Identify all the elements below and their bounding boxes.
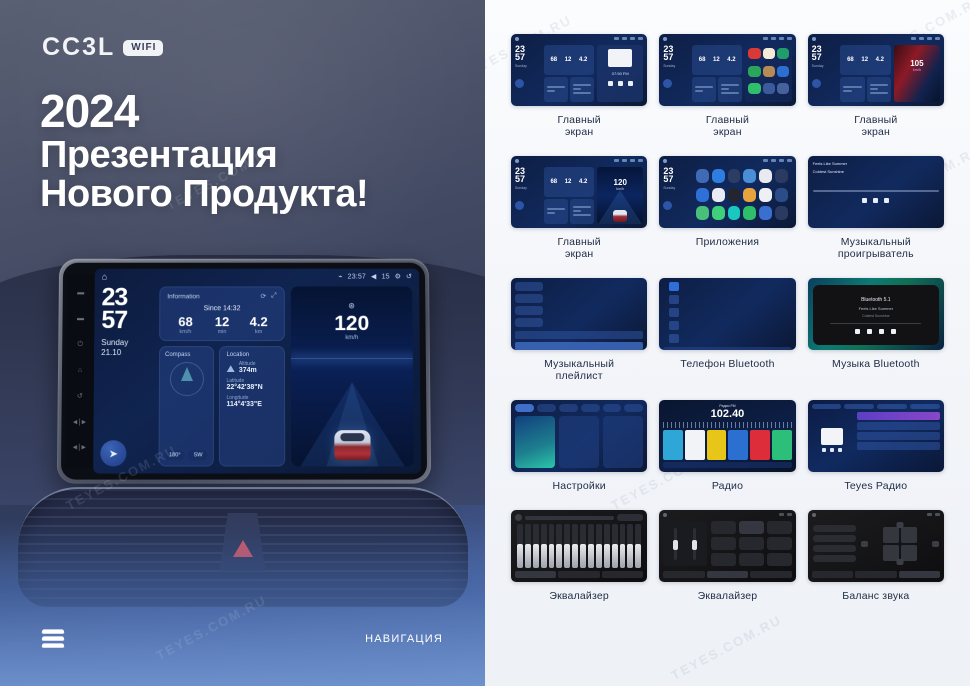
- thumb-widgets: 68 12 4.2: [692, 45, 742, 102]
- preset-rear[interactable]: [813, 545, 856, 552]
- app-icon-filemanager[interactable]: [743, 188, 756, 202]
- clock-widget[interactable]: 23 57 Sunday 21.10 ➤: [100, 286, 153, 466]
- app-icon-carplay[interactable]: [775, 169, 788, 183]
- tab-all[interactable]: [812, 404, 842, 409]
- thumb-status-bar: [808, 34, 944, 43]
- gallery-item[interactable]: Teyes Радио: [808, 400, 944, 492]
- eq-band[interactable]: [572, 524, 578, 568]
- eq-band[interactable]: [596, 524, 602, 568]
- item-caption: Музыкальный плейлист: [544, 358, 614, 382]
- wifi-icon: [763, 159, 768, 162]
- eq2-slider[interactable]: [693, 528, 696, 560]
- eq-band[interactable]: [612, 524, 618, 568]
- hardware-key-column[interactable]: ▬ ▬ ⏻ ⌂ ↺ ◄|► ◄|►: [65, 275, 95, 468]
- back-icon[interactable]: ↺: [406, 273, 412, 281]
- next-icon[interactable]: [891, 329, 896, 334]
- screenshot-home-media[interactable]: 23 57 Sunday 68 12 4.2: [511, 34, 647, 106]
- tab-eq[interactable]: [515, 571, 556, 578]
- volume-icon: [779, 159, 784, 162]
- screenshot-equalizer-2[interactable]: [659, 510, 795, 582]
- preset-driver[interactable]: [813, 525, 856, 532]
- progress-bar[interactable]: [813, 190, 939, 192]
- app-icon-maps[interactable]: [777, 48, 789, 59]
- sidebar-item-search[interactable]: [669, 308, 679, 317]
- screenshot-bluetooth-music[interactable]: Bluetooth 5.1 Feels Like Summer Coldest …: [808, 278, 944, 350]
- navigation-button[interactable]: [812, 79, 821, 88]
- tab-balance[interactable]: [899, 571, 940, 578]
- brand-name: CC3L: [42, 33, 115, 62]
- thumb-minutes: 57: [812, 53, 838, 61]
- head-unit-screen[interactable]: ⌂ ⌁ 23:57 ◀ 15 ⚙ ↺ 23 57: [93, 269, 421, 474]
- app-icon-bluetooth-music[interactable]: [728, 169, 741, 183]
- thumb-status-bar: [511, 34, 647, 43]
- gallery-item[interactable]: Bluetooth 5.1 Feels Like Summer Coldest …: [808, 278, 944, 382]
- information-widget[interactable]: Information ⟳ ⤢ Since 14:32 68 km/h: [159, 286, 285, 341]
- app-icon-radio[interactable]: [759, 206, 772, 220]
- item-caption: Главный экран: [706, 114, 749, 138]
- preset-flat[interactable]: [739, 553, 764, 566]
- tab-genres[interactable]: [844, 404, 874, 409]
- trip-stats: 68 12 4.2: [695, 47, 739, 73]
- app-icon-contacts[interactable]: [712, 188, 725, 202]
- app-icon-files[interactable]: [763, 66, 775, 77]
- speaker-front-left[interactable]: [883, 527, 899, 543]
- gallery-item[interactable]: 23 57 Sunday 68 12 4.2: [511, 34, 647, 138]
- thumb-lower-row: [544, 199, 594, 225]
- location-widget[interactable]: Location ⛰ Altitude 374m: [219, 346, 285, 466]
- eq-band[interactable]: [604, 524, 610, 568]
- speed-value: 120: [614, 178, 627, 187]
- altitude-value: 374m: [239, 367, 257, 374]
- preset-classic[interactable]: [711, 537, 736, 550]
- screenshot-teyes-radio[interactable]: [808, 400, 944, 472]
- thumb-status-bar: [659, 156, 795, 165]
- tab-storage[interactable]: [603, 404, 622, 412]
- track-artist: Coldest Sunshine: [813, 169, 939, 174]
- navigation-button[interactable]: [515, 79, 524, 88]
- media-time: 07:50 FM: [612, 71, 629, 76]
- station-list[interactable]: [857, 412, 940, 468]
- tab-eq[interactable]: [812, 571, 853, 578]
- preset-1[interactable]: [663, 430, 683, 460]
- eq2-presets[interactable]: [711, 521, 792, 566]
- stat-speed-value: 68: [699, 57, 706, 63]
- preset-vocal[interactable]: [739, 537, 764, 550]
- app-icon-music[interactable]: [728, 206, 741, 220]
- tab-sound-field[interactable]: [558, 571, 599, 578]
- speaker-front-right[interactable]: [901, 527, 917, 543]
- item-caption: Настройки: [553, 480, 606, 492]
- prev-icon: [822, 448, 826, 452]
- eq2-body: [659, 519, 795, 568]
- eq-reset-button[interactable]: [617, 514, 643, 521]
- app-icon-calculator[interactable]: [743, 169, 756, 183]
- item-caption: Главный экран: [558, 236, 601, 260]
- thumb-clock: 23 57 Sunday: [812, 45, 838, 102]
- preset-front[interactable]: [813, 535, 856, 542]
- media-controls[interactable]: [608, 81, 633, 86]
- radio-toolbar[interactable]: [663, 462, 791, 468]
- status-time: 23:57: [348, 273, 366, 280]
- stat-speed-value: 68: [550, 57, 557, 63]
- home-icon: [663, 513, 667, 517]
- thumb-body: 23 57 Sunday 68 12 4.2: [808, 43, 944, 106]
- list-item[interactable]: [857, 442, 940, 450]
- app-icon-play[interactable]: [748, 83, 760, 94]
- screenshot-music-player[interactable]: Feels Like Summer Coldest Sunshine: [808, 156, 944, 228]
- stat-distance: 4.2 km: [240, 315, 277, 335]
- radio-frequency: 102.40: [663, 408, 791, 420]
- thumb-body: 23 57 Sunday: [659, 165, 795, 228]
- app-icon-equalizer[interactable]: [775, 188, 788, 202]
- preset-rock[interactable]: [739, 521, 764, 534]
- thumb-status-bar: [808, 510, 944, 519]
- clock-icon: [622, 159, 627, 162]
- caption-line-1: Телефон Bluetooth: [680, 358, 774, 370]
- app-icon-maps[interactable]: [712, 206, 725, 220]
- caption-line-1: Музыкальный: [544, 358, 614, 370]
- item-caption: Главный экран: [558, 114, 601, 138]
- caption-line-1: Настройки: [553, 480, 606, 492]
- play-pause-icon[interactable]: [867, 329, 872, 334]
- stat-time: 12 min: [204, 315, 241, 335]
- eq-tabs[interactable]: [515, 571, 643, 578]
- head-unit-bezel: ▬ ▬ ⏻ ⌂ ↺ ◄|► ◄|► ⌂ ⌁ 23:57: [57, 259, 431, 484]
- screenshot-playlist[interactable]: [511, 278, 647, 350]
- app-icon-avin[interactable]: [696, 169, 709, 183]
- screens-gallery-panel: TEYES.COM.RU TEYES.COM.RU TEYES.COM.RU T…: [485, 0, 970, 686]
- stat-distance-value: 4.2: [240, 315, 277, 329]
- eq-band[interactable]: [620, 524, 626, 568]
- expand-icon[interactable]: ⤢: [271, 292, 277, 300]
- eq-tabs[interactable]: [808, 571, 944, 582]
- screenshot-radio[interactable]: Радио FM 102.40: [659, 400, 795, 472]
- app-icon-spotify[interactable]: [748, 66, 760, 77]
- tab-history[interactable]: [910, 404, 940, 409]
- pause-icon[interactable]: [873, 198, 878, 203]
- app-drawer-grid[interactable]: [692, 167, 792, 226]
- preset-5[interactable]: [750, 430, 770, 460]
- screenshot-balance[interactable]: [808, 510, 944, 582]
- head-unit-body: ▬ ▬ ⏻ ⌂ ↺ ◄|► ◄|► ⌂ ⌁ 23:57: [61, 263, 427, 480]
- preset-bass[interactable]: [767, 553, 792, 566]
- caption-line-1: Teyes Радио: [844, 480, 907, 492]
- sidebar-item-settings[interactable]: [669, 334, 679, 343]
- product-logo: CC3L WIFI: [42, 33, 163, 62]
- information-widget: 68 12 4.2: [544, 45, 594, 75]
- wifi-icon: [763, 37, 768, 40]
- thumb-day: Sunday: [663, 64, 689, 69]
- sidebar-item-tracks[interactable]: [515, 282, 543, 291]
- power-key-icon[interactable]: ⏻: [77, 341, 83, 348]
- player-left: Feels Like Summer Coldest Sunshine: [808, 156, 944, 228]
- sidebar-item-folders[interactable]: [515, 318, 543, 327]
- speed-readout: 105 km/h: [894, 59, 940, 72]
- playlist-sidebar[interactable]: [515, 282, 543, 327]
- stat-speed-unit: km/h: [167, 329, 204, 335]
- eq-band[interactable]: [549, 524, 555, 568]
- thumb-minutes: 57: [663, 53, 689, 61]
- stat-time-value: 12: [565, 179, 572, 185]
- card-more[interactable]: [603, 416, 643, 468]
- screenshot-settings[interactable]: [511, 400, 647, 472]
- app-icon-playstore[interactable]: [743, 206, 756, 220]
- stat-time-unit: min: [204, 329, 241, 335]
- minus-key-icon[interactable]: ▬: [77, 290, 84, 297]
- thumb-body: 23 57 Sunday 68 12 4.2: [659, 43, 795, 106]
- caption-line-2: экран: [558, 248, 601, 260]
- navigation-button[interactable]: [663, 79, 672, 88]
- preset-3[interactable]: [707, 430, 727, 460]
- next-icon[interactable]: [884, 198, 889, 203]
- now-playing: [812, 412, 853, 468]
- gear-icon[interactable]: ⚙: [395, 273, 402, 281]
- stat-distance-unit: km: [240, 329, 277, 335]
- list-item[interactable]: [515, 331, 643, 339]
- app-shortcut-panel[interactable]: [745, 45, 791, 102]
- speaker-pad[interactable]: [883, 527, 917, 561]
- driving-widget: 105 km/h: [894, 45, 940, 102]
- list-item[interactable]: [515, 342, 643, 350]
- mountain-icon: ⛰: [226, 364, 234, 375]
- tab-balance[interactable]: [750, 571, 791, 578]
- thumb-body: 23 57 Sunday 68 12 4.2: [511, 43, 647, 106]
- gallery-item[interactable]: 123★ 456⌫ 789✆ *0# Телефон Bluetooth: [659, 278, 795, 382]
- balance-body: [808, 519, 944, 568]
- screenshot-equalizer[interactable]: [511, 510, 647, 582]
- teyes-body: [812, 412, 940, 468]
- next-icon: [838, 448, 842, 452]
- back-button[interactable]: [663, 201, 672, 210]
- gallery-item[interactable]: 23 57 Sunday 68 12 4.2: [808, 34, 944, 138]
- stat-time-value: 12: [204, 315, 241, 329]
- speed-icon: ⊛: [348, 301, 355, 310]
- app-icon-gallery[interactable]: [763, 83, 775, 94]
- gallery-item[interactable]: Радио FM 102.40 Радио: [659, 400, 795, 492]
- mic-key-icon[interactable]: ◄|►: [72, 419, 88, 426]
- app-icon-youtube[interactable]: [748, 48, 760, 59]
- list-item[interactable]: [857, 412, 940, 420]
- preset-tiles[interactable]: [663, 430, 791, 460]
- preset-custom[interactable]: [711, 553, 736, 566]
- app-icon-gallery[interactable]: [759, 188, 772, 202]
- longitude-value: 114°4'33"E: [226, 401, 278, 408]
- tab-balance[interactable]: [602, 571, 643, 578]
- widget-column: Information ⟳ ⤢ Since 14:32 68 km/h: [159, 286, 286, 466]
- hero-footer: НАВИГАЦИЯ: [0, 629, 485, 648]
- volume-icon[interactable]: ◀: [371, 273, 377, 281]
- card-traffic[interactable]: [559, 416, 599, 468]
- eq-band-sliders[interactable]: [515, 524, 643, 568]
- refresh-icon[interactable]: ⟳: [260, 292, 266, 300]
- home-icon: [663, 37, 667, 41]
- sidebar-item-artists[interactable]: [515, 294, 543, 303]
- eq-band[interactable]: [588, 524, 594, 568]
- gallery-item[interactable]: 23 57 Sunday: [659, 156, 795, 260]
- compass-widget: [692, 77, 716, 103]
- tab-favorites[interactable]: [877, 404, 907, 409]
- stop-icon[interactable]: [879, 329, 884, 334]
- tab-display[interactable]: [559, 404, 578, 412]
- sidebar-item-history[interactable]: [669, 321, 679, 330]
- gallery-item[interactable]: Эквалайзер: [511, 510, 647, 602]
- app-icon-camera[interactable]: [759, 169, 772, 183]
- eq-band[interactable]: [541, 524, 547, 568]
- status-bar: ⌂ ⌁ 23:57 ◀ 15 ⚙ ↺: [95, 269, 419, 285]
- preset-dance[interactable]: [767, 537, 792, 550]
- caption-line-2: экран: [854, 126, 897, 138]
- eq-band[interactable]: [525, 524, 531, 568]
- gear-icon: [935, 37, 940, 40]
- preset-2[interactable]: [685, 430, 705, 460]
- thumb-status-bar: [511, 156, 647, 165]
- balance-left-arrow[interactable]: [861, 541, 868, 547]
- app-icon-dvr[interactable]: [728, 188, 741, 202]
- stat-speed-value: 68: [550, 179, 557, 185]
- eq-band[interactable]: [556, 524, 562, 568]
- gallery-item[interactable]: 23 57 Sunday 68 12 4.2: [659, 34, 795, 138]
- app-icon-google[interactable]: [696, 206, 709, 220]
- speaker-rear-left[interactable]: [883, 545, 899, 561]
- clock-day: Sunday: [101, 338, 153, 348]
- eq-band[interactable]: [627, 524, 633, 568]
- screenshot-home-apps[interactable]: 23 57 Sunday 68 12 4.2: [659, 34, 795, 106]
- preset-6[interactable]: [772, 430, 792, 460]
- home-key-icon[interactable]: ⌂: [78, 367, 82, 374]
- footer-label: НАВИГАЦИЯ: [365, 633, 443, 645]
- gallery-item[interactable]: Баланс звука: [808, 510, 944, 602]
- gallery-item[interactable]: Эквалайзер: [659, 510, 795, 602]
- radio-header: Радио FM 102.40: [663, 404, 791, 420]
- thumb-status-bar: [659, 34, 795, 43]
- thumb-widgets: 68 12 4.2: [544, 167, 594, 224]
- preset-jazz[interactable]: [767, 521, 792, 534]
- gallery-item[interactable]: 23 57 Sunday 68 12 4.2: [511, 156, 647, 260]
- app-icon-settings[interactable]: [777, 66, 789, 77]
- app-icon-browser[interactable]: [763, 48, 775, 59]
- gallery-grid: 23 57 Sunday 68 12 4.2: [511, 34, 944, 603]
- caption-line-2: плейлист: [544, 370, 614, 382]
- phone-sidebar[interactable]: [663, 282, 684, 343]
- stat-distance-value: 4.2: [579, 179, 587, 185]
- sidebar-item-albums[interactable]: [515, 306, 543, 315]
- screenshot-home-drive[interactable]: 23 57 Sunday 68 12 4.2: [511, 156, 647, 228]
- caption-line-1: Главный: [854, 114, 897, 126]
- teyes-tabs[interactable]: [812, 404, 940, 409]
- eq-band[interactable]: [580, 524, 586, 568]
- preset-4[interactable]: [728, 430, 748, 460]
- eq-band[interactable]: [564, 524, 570, 568]
- mute-key-icon[interactable]: ◄|►: [71, 445, 87, 452]
- eq-band[interactable]: [533, 524, 539, 568]
- wifi-icon: [779, 513, 784, 516]
- eq-band[interactable]: [635, 524, 641, 568]
- since-label: Since 14:32: [167, 305, 277, 312]
- gallery-item[interactable]: Музыкальный плейлист: [511, 278, 647, 382]
- speaker-rear-right[interactable]: [901, 545, 917, 561]
- screenshot-apps[interactable]: 23 57 Sunday: [659, 156, 795, 228]
- balance-up-arrow[interactable]: [896, 522, 903, 528]
- balance-down-arrow[interactable]: [896, 559, 903, 565]
- preset-all[interactable]: [813, 555, 856, 562]
- home-icon[interactable]: ⌂: [102, 272, 107, 282]
- clock-icon: [919, 37, 924, 40]
- player-controls[interactable]: [813, 198, 939, 203]
- location-widget: [570, 77, 594, 103]
- stat-time-value: 12: [565, 57, 572, 63]
- screenshot-bluetooth-phone[interactable]: 123★ 456⌫ 789✆ *0#: [659, 278, 795, 350]
- balance-right-arrow[interactable]: [932, 541, 939, 547]
- bt-controls[interactable]: [855, 329, 896, 334]
- settings-tabs[interactable]: [515, 404, 643, 412]
- altitude-block: Altitude 374m: [239, 361, 257, 374]
- app-icon-chrome[interactable]: [696, 188, 709, 202]
- settings-cards[interactable]: [515, 416, 643, 468]
- balance-pad-wrap[interactable]: [861, 522, 939, 565]
- gallery-item[interactable]: Feels Like Summer Coldest Sunshine Музык…: [808, 156, 944, 260]
- stat-speed: 68 km/h: [167, 315, 204, 335]
- tab-system[interactable]: [624, 404, 643, 412]
- tab-apps[interactable]: [581, 404, 600, 412]
- eq2-sliders[interactable]: [663, 521, 707, 566]
- information-widget: 68 12 4.2: [692, 45, 742, 75]
- eq-band[interactable]: [517, 524, 523, 568]
- tab-sound[interactable]: [537, 404, 556, 412]
- thumb-clock: 23 57 Sunday: [663, 167, 689, 226]
- card-wifi[interactable]: [515, 416, 555, 468]
- prev-icon[interactable]: [862, 198, 867, 203]
- eq-tabs[interactable]: [659, 571, 795, 582]
- item-caption: Радио: [712, 480, 743, 492]
- thumb-widgets: 68 12 4.2: [840, 45, 890, 102]
- tab-sound-field[interactable]: [707, 571, 748, 578]
- app-icon-bluetooth[interactable]: [712, 169, 725, 183]
- sidebar-item-dialer[interactable]: [669, 282, 679, 291]
- playlist-list[interactable]: [515, 331, 643, 350]
- list-item[interactable]: [857, 432, 940, 440]
- compass-widget[interactable]: Compass 180° SW: [159, 346, 215, 466]
- stop-icon: [830, 448, 834, 452]
- prev-icon[interactable]: [855, 329, 860, 334]
- progress-bar[interactable]: [830, 323, 921, 325]
- sidebar-item-contacts[interactable]: [669, 295, 679, 304]
- number-field[interactable]: [663, 347, 791, 350]
- navigation-button[interactable]: [515, 201, 524, 210]
- back-key-icon[interactable]: ↺: [77, 393, 83, 400]
- thumb-day: Sunday: [515, 64, 541, 69]
- tab-wifi[interactable]: [515, 404, 534, 412]
- latitude-row: Latitude 22°42'38"N: [226, 378, 278, 391]
- preset-pop[interactable]: [711, 521, 736, 534]
- app-icon-grid[interactable]: [777, 83, 789, 94]
- presentation-page: CC3L WIFI 2024 Презентация Нового Продук…: [0, 0, 970, 686]
- player-controls[interactable]: [822, 448, 842, 452]
- gallery-item[interactable]: Настройки: [511, 400, 647, 492]
- list-item[interactable]: [857, 422, 940, 430]
- tuning-scale[interactable]: [663, 422, 791, 428]
- wifi-icon: [614, 159, 619, 162]
- eq2-slider[interactable]: [674, 528, 677, 560]
- driving-widget[interactable]: ⊛ 120 km/h: [291, 286, 414, 466]
- tab-eq[interactable]: [663, 571, 704, 578]
- plus-key-icon[interactable]: ▬: [77, 315, 84, 322]
- tab-sound-field[interactable]: [855, 571, 896, 578]
- item-caption: Эквалайзер: [549, 590, 609, 602]
- screenshot-home-drive-red[interactable]: 23 57 Sunday 68 12 4.2: [808, 34, 944, 106]
- app-icon-more[interactable]: [775, 206, 788, 220]
- balance-presets[interactable]: [813, 522, 856, 565]
- thumb-clock: 23 57 Sunday: [515, 167, 541, 224]
